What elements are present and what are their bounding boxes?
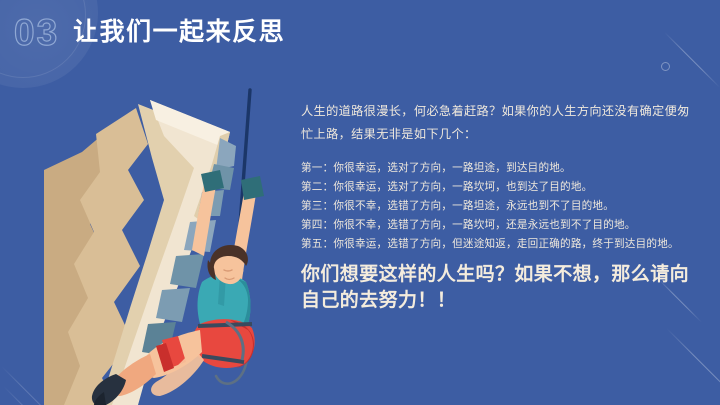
list-item: 第二：你很幸运，选对了方向，一路坎坷，也到达了目的地。 [301,178,697,196]
slide-header: 03 让我们一起来反思 [14,14,285,51]
list-item: 第一：你很幸运，选对了方向，一路坦途，到达目的地。 [301,159,697,177]
list-item: 第五：你很幸运，选错了方向，但迷途知返，走回正确的路，终于到达目的地。 [301,235,697,253]
slide-content: 人生的道路很漫长，何必急着赶路？如果你的人生方向还没有确定便匆忙上路，结果无非是… [301,100,697,314]
bottom-left-diagonal-line-2 [3,386,48,405]
rock-climber-illustration [44,74,304,405]
reason-list: 第一：你很幸运，选对了方向，一路坦途，到达目的地。 第二：你很幸运，选对了方向，… [301,159,697,253]
list-item: 第四：你很不幸，选错了方向，一路坎坷，还是永远也到不了目的地。 [301,216,697,234]
intro-paragraph: 人生的道路很漫长，何必急着赶路？如果你的人生方向还没有确定便匆忙上路，结果无非是… [301,100,697,146]
top-right-circle-decoration [661,62,670,71]
bottom-right-diagonal-line-2 [666,328,720,405]
section-number: 03 [14,14,59,51]
conclusion-text: 你们想要这样的人生吗？如果不想，那么请向自己的去努力！！ [301,262,697,314]
list-item: 第三：你很不幸，选错了方向，一路坦途，永远也到不了目的地。 [301,197,697,215]
presentation-slide: 03 让我们一起来反思 [0,0,720,405]
top-right-diagonal-line [664,32,720,88]
page-title: 让我们一起来反思 [73,20,285,45]
